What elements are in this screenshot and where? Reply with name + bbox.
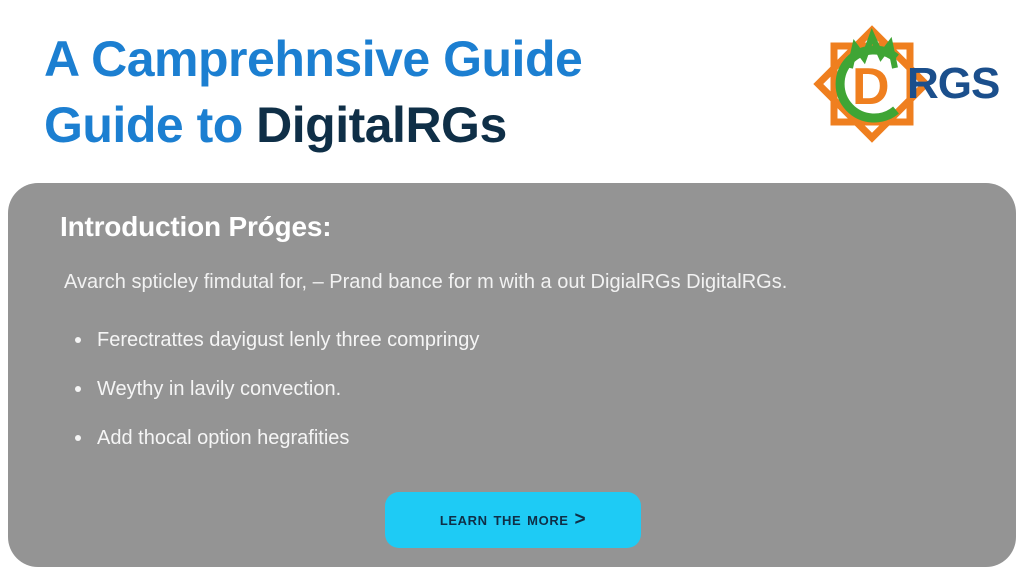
slide-root: A Camprehnsive Guide Guide to DigitalRGs… <box>0 0 1024 581</box>
logo-letter-d: D <box>852 58 890 116</box>
logo-wordmark: RGS <box>907 62 999 106</box>
list-item: Weythy in lavily convection. <box>64 377 824 402</box>
learn-more-button[interactable]: Learn the more > <box>385 492 641 548</box>
page-title: A Camprehnsive Guide Guide to DigitalRGs <box>44 26 764 158</box>
brand-logo: D RGS <box>812 24 1012 146</box>
list-item: Add thocal option hegrafities <box>64 426 824 451</box>
headline-line-2-prefix: Guide to <box>44 97 256 153</box>
card-intro-text: Avarch spticley fimdutal for, – Prand ba… <box>64 268 984 296</box>
slide-header: A Camprehnsive Guide Guide to DigitalRGs… <box>0 0 1024 175</box>
feature-bullet-list: Ferectrattes dayigust lenly three compri… <box>64 328 824 475</box>
card-title: Introduction Próges: <box>60 211 331 243</box>
headline-line-1: A Camprehnsive Guide <box>44 31 582 87</box>
list-item: Ferectrattes dayigust lenly three compri… <box>64 328 824 353</box>
headline-brand: DigitalRGs <box>256 97 507 153</box>
content-card: Introduction Próges: Avarch spticley fim… <box>8 183 1016 567</box>
